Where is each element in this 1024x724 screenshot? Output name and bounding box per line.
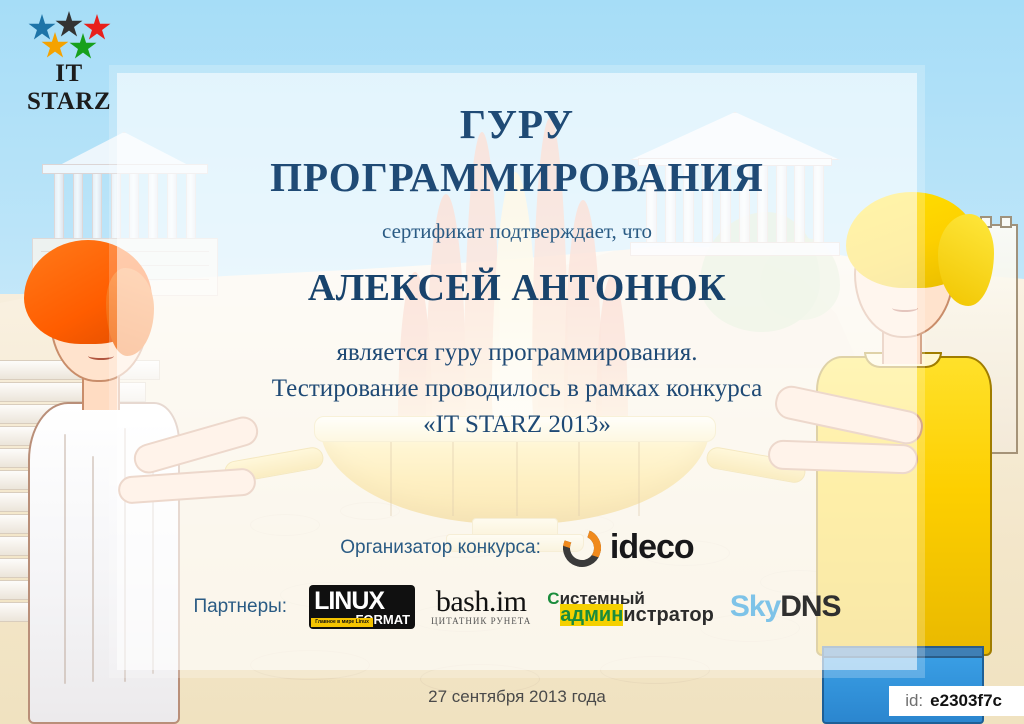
bash-im-tagline: ЦИТАТНИК РУНЕТА bbox=[431, 616, 531, 626]
sysadmin-part1: С bbox=[547, 589, 559, 608]
ideco-logo: ideco bbox=[563, 528, 694, 567]
skydns-part2: DNS bbox=[780, 590, 840, 623]
bash-im-logo: bash.im ЦИТАТНИК РУНЕТА bbox=[431, 588, 531, 627]
certificate-subtitle: сертификат подтверждает, что bbox=[117, 219, 917, 244]
id-badge-key: id: bbox=[905, 691, 923, 710]
certificate-canvas: IT STARZ ГУРУ ПРОГРАММИРОВАНИЯ сертифика… bbox=[0, 0, 1024, 724]
skydns-logo: SkyDNS bbox=[730, 590, 841, 624]
it-starz-logo: IT STARZ bbox=[14, 8, 124, 88]
sysadmin-magazine-logo: Системный администратор bbox=[547, 590, 714, 625]
description-line-1: является гуру программирования. bbox=[117, 336, 917, 370]
certificate-content: ГУРУ ПРОГРАММИРОВАНИЯ сертификат подтвер… bbox=[117, 73, 917, 670]
description-line-2: Тестирование проводилось в рамках конкур… bbox=[117, 372, 917, 406]
star-red-icon bbox=[83, 14, 111, 42]
brand-wordmark: IT STARZ bbox=[14, 60, 124, 116]
ideco-mark-icon bbox=[563, 529, 601, 567]
partners-label: Партнеры: bbox=[193, 596, 287, 618]
linux-format-logo: LINUX FORMAT Главное в мире Linux bbox=[309, 585, 415, 629]
recipient-name: АЛЕКСЕЙ АНТОНЮК bbox=[117, 266, 917, 310]
certificate-title-line1: ГУРУ bbox=[117, 103, 917, 146]
id-badge-value: e2303f7c bbox=[930, 691, 1002, 710]
ideco-wordmark: ideco bbox=[610, 528, 694, 567]
certificate-title-line2: ПРОГРАММИРОВАНИЯ bbox=[117, 156, 917, 199]
certificate-description: является гуру программирования. Тестиров… bbox=[117, 336, 917, 441]
organizer-row: Организатор конкурса: ideco bbox=[117, 528, 917, 567]
certificate-date: 27 сентября 2013 года bbox=[117, 687, 917, 707]
star-blue-icon bbox=[28, 14, 56, 42]
star-orange-icon bbox=[41, 32, 69, 60]
sysadmin-part4: истратор bbox=[623, 604, 714, 626]
organizer-label: Организатор конкурса: bbox=[340, 537, 541, 559]
id-badge: id:e2303f7c bbox=[889, 686, 1024, 716]
skydns-part1: Sky bbox=[730, 590, 780, 623]
star-dark-icon bbox=[55, 11, 83, 39]
linux-format-tagline: Главное в мире Linux bbox=[311, 618, 373, 627]
description-line-3: «IT STARZ 2013» bbox=[117, 408, 917, 442]
sysadmin-line2: администратор bbox=[560, 605, 714, 625]
sysadmin-part3: админ bbox=[560, 604, 623, 626]
star-green-icon bbox=[69, 33, 97, 61]
partners-row: Партнеры: LINUX FORMAT Главное в мире Li… bbox=[117, 585, 917, 629]
bash-im-wordmark: bash.im bbox=[431, 588, 531, 617]
